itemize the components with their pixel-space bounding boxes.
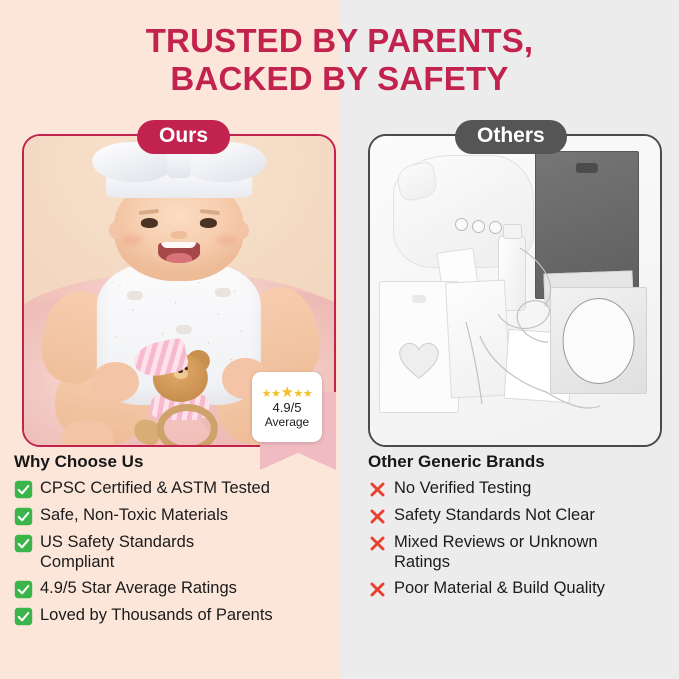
- cloud-print: [126, 291, 142, 300]
- list-item: US Safety Standards Compliant: [14, 532, 336, 572]
- list-item-label: US Safety Standards Compliant: [40, 532, 265, 572]
- rating-badge: ★★★★★ 4.9/5 Average: [252, 372, 336, 470]
- list-item: Safe, Non-Toxic Materials: [14, 505, 336, 526]
- ours-badge: Ours: [137, 120, 230, 154]
- others-photo-card: [368, 134, 662, 447]
- list-item-label: Safety Standards Not Clear: [394, 505, 595, 525]
- baby-teeth: [162, 242, 197, 247]
- list-item-label: Safe, Non-Toxic Materials: [40, 505, 228, 525]
- rating-card: ★★★★★ 4.9/5 Average: [252, 372, 322, 442]
- baby-tongue: [166, 253, 193, 264]
- cross-icon: [368, 534, 387, 553]
- cross-icon: [368, 507, 387, 526]
- baby-nose: [171, 231, 188, 239]
- baby-ear-right: [235, 222, 249, 239]
- other-brands-list: Other Generic Brands No Verified Testing…: [368, 452, 668, 605]
- cross-icon: [368, 580, 387, 599]
- check-icon: [14, 507, 33, 526]
- cross-icon: [368, 480, 387, 499]
- list-item: Safety Standards Not Clear: [368, 505, 668, 526]
- list-item-label: Loved by Thousands of Parents: [40, 605, 273, 625]
- why-choose-us-list: Why Choose Us CPSC Certified & ASTM Test…: [14, 452, 336, 632]
- list-item-label: 4.9/5 Star Average Ratings: [40, 578, 237, 598]
- page-title-line-1: TRUSTED BY PARENTS,: [0, 22, 679, 60]
- baby-cheek-left: [122, 235, 143, 246]
- check-icon: [14, 480, 33, 499]
- list-item: 4.9/5 Star Average Ratings: [14, 578, 336, 599]
- page-title: TRUSTED BY PARENTS, BACKED BY SAFETY: [0, 22, 679, 99]
- list-item-label: CPSC Certified & ASTM Tested: [40, 478, 270, 498]
- check-icon: [14, 580, 33, 599]
- list-item: Loved by Thousands of Parents: [14, 605, 336, 626]
- star-rating-icon: ★★★★★: [262, 385, 312, 400]
- rating-score: 4.9/5: [273, 401, 302, 415]
- baby-brow-right: [200, 209, 220, 215]
- ribbon-strings: [370, 136, 660, 445]
- baby-cheek-right: [215, 235, 236, 246]
- list-item: CPSC Certified & ASTM Tested: [14, 478, 336, 499]
- baby-brow-left: [139, 209, 159, 215]
- other-brands-heading: Other Generic Brands: [368, 452, 668, 472]
- baby-eye-right: [200, 218, 217, 227]
- list-item-label: Poor Material & Build Quality: [394, 578, 605, 598]
- teddy-bear-rattle: [128, 346, 230, 439]
- list-item-label: No Verified Testing: [394, 478, 531, 498]
- others-photo: [370, 136, 660, 445]
- check-icon: [14, 534, 33, 553]
- teddy-wooden-ring: [156, 404, 217, 447]
- others-badge: Others: [455, 120, 567, 154]
- page-title-line-2: BACKED BY SAFETY: [0, 60, 679, 98]
- baby-eye-left: [141, 218, 158, 227]
- rating-label: Average: [265, 416, 309, 429]
- baby-foot-left: [61, 420, 114, 447]
- baby-smile: [158, 242, 200, 263]
- check-icon: [14, 607, 33, 626]
- list-item: No Verified Testing: [368, 478, 668, 499]
- cloud-print: [176, 325, 192, 334]
- list-item-label: Mixed Reviews or Unknown Ratings: [394, 532, 634, 572]
- baby-ear-left: [109, 222, 123, 239]
- cloud-print: [215, 288, 231, 297]
- list-item: Poor Material & Build Quality: [368, 578, 668, 599]
- list-item: Mixed Reviews or Unknown Ratings: [368, 532, 668, 572]
- comparison-infographic: TRUSTED BY PARENTS, BACKED BY SAFETY: [0, 0, 679, 679]
